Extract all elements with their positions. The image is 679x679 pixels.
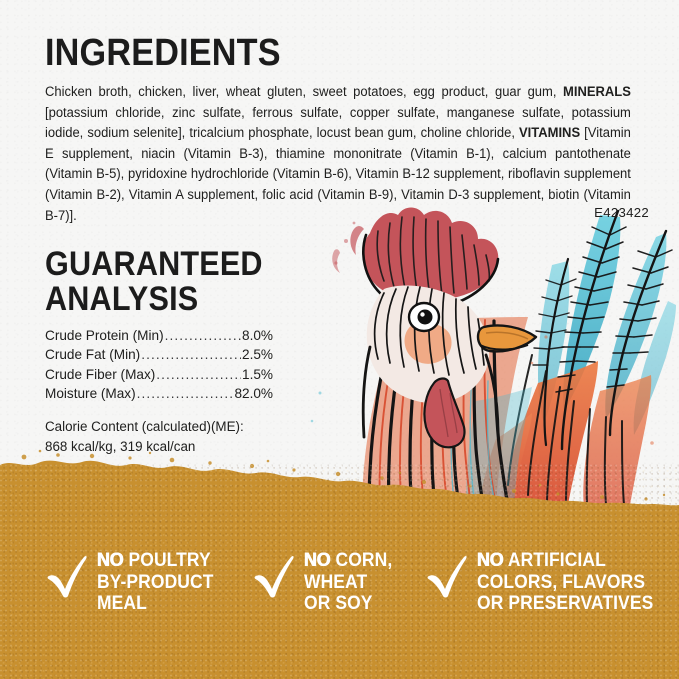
analysis-value: 2.5% [242, 345, 273, 364]
analysis-label: Crude Fiber (Max) [45, 365, 155, 384]
claim-text: NO ARTIFICIAL COLORS, FLAVORS OR PRESERV… [477, 548, 653, 615]
analysis-row: Crude Protein (Min).....................… [45, 326, 273, 345]
ingredients-body: Chicken broth, chicken, liver, wheat glu… [45, 82, 631, 226]
guaranteed-analysis-table: Crude Protein (Min).....................… [45, 326, 273, 404]
ingredients-emphasis: MINERALS [563, 84, 631, 99]
claim-rest: ARTIFICIAL COLORS, FLAVORS OR PRESERVATI… [477, 550, 653, 614]
analysis-dot-leader: ........................................ [156, 365, 241, 384]
claim-emphasis: NO [304, 549, 331, 571]
pet-food-label: INGREDIENTS Chicken broth, chicken, live… [0, 0, 679, 679]
ingredients-emphasis: VITAMINS [519, 125, 580, 140]
ingredients-heading: INGREDIENTS [45, 32, 281, 74]
check-icon [253, 552, 295, 598]
analysis-label: Crude Fat (Min) [45, 345, 140, 364]
claim-item: NO ARTIFICIAL COLORS, FLAVORS OR PRESERV… [426, 548, 669, 615]
analysis-dot-leader: ........................................ [141, 345, 241, 364]
analysis-value: 82.0% [234, 384, 273, 403]
claims-row: NO POULTRY BY-PRODUCT MEALNO CORN, WHEAT… [0, 548, 679, 648]
analysis-label: Crude Protein (Min) [45, 326, 164, 345]
ingredients-text: Chicken broth, chicken, liver, wheat glu… [45, 84, 563, 99]
analysis-value: 1.5% [242, 365, 273, 384]
analysis-row: Moisture (Max)..........................… [45, 384, 273, 403]
analysis-row: Crude Fat (Min).........................… [45, 345, 273, 364]
claim-item: NO POULTRY BY-PRODUCT MEAL [46, 548, 224, 615]
analysis-value: 8.0% [242, 326, 273, 345]
analysis-row: Crude Fiber (Max).......................… [45, 365, 273, 384]
claim-item: NO CORN, WHEAT OR SOY [253, 548, 400, 615]
calorie-content: Calorie Content (calculated)(ME): 868 kc… [45, 417, 244, 456]
analysis-dot-leader: ........................................ [137, 384, 234, 403]
check-icon [426, 552, 468, 598]
claim-text: NO CORN, WHEAT OR SOY [304, 548, 392, 615]
ingredient-code: E423422 [594, 205, 649, 220]
claim-emphasis: NO [477, 549, 504, 571]
guaranteed-analysis-heading: GUARANTEED ANALYSIS [45, 247, 263, 317]
analysis-dot-leader: ........................................ [165, 326, 241, 345]
claim-text: NO POULTRY BY-PRODUCT MEAL [97, 548, 213, 615]
check-icon [46, 552, 88, 598]
analysis-label: Moisture (Max) [45, 384, 136, 403]
claim-emphasis: NO [97, 549, 124, 571]
